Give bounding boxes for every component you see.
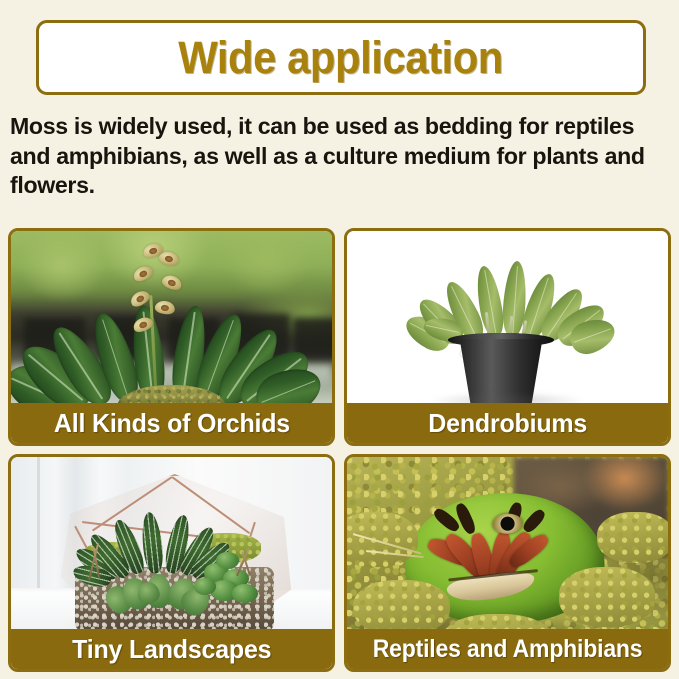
title-banner: Wide application <box>36 20 646 95</box>
gallery-caption-label: Dendrobiums <box>428 408 587 439</box>
foreground-moss-clump <box>559 567 655 626</box>
frog-dark-marking <box>521 507 547 535</box>
gallery-cell-tiny-landscapes[interactable]: Tiny Landscapes <box>8 454 335 672</box>
gallery-cell-dendrobiums[interactable]: Dendrobiums <box>344 228 671 446</box>
page-title: Wide application <box>179 32 504 84</box>
gallery-caption-bar: Reptiles and Amphibians <box>347 629 668 669</box>
gallery-caption-label: All Kinds of Orchids <box>53 408 289 439</box>
gallery-cell-reptiles-amphibians[interactable]: Reptiles and Amphibians <box>344 454 671 672</box>
gallery-caption-bar: All Kinds of Orchids <box>11 403 332 443</box>
application-gallery-grid: All Kinds of Orchids <box>8 228 671 672</box>
gallery-caption-label: Reptiles and Amphibians <box>373 635 643 664</box>
frog-eye <box>491 513 523 535</box>
intro-paragraph: Moss is widely used, it can be used as b… <box>10 112 665 201</box>
foreground-moss-clump <box>597 512 668 563</box>
foreground-moss-clump <box>347 512 418 567</box>
gallery-caption-bar: Dendrobiums <box>347 403 668 443</box>
jade-leaf <box>194 578 216 595</box>
gallery-caption-bar: Tiny Landscapes <box>11 629 332 669</box>
gallery-cell-orchids[interactable]: All Kinds of Orchids <box>8 228 335 446</box>
gallery-caption-label: Tiny Landscapes <box>72 634 271 665</box>
foreground-moss-clump <box>353 580 449 635</box>
infographic-page: Wide application Moss is widely used, it… <box>0 0 679 679</box>
